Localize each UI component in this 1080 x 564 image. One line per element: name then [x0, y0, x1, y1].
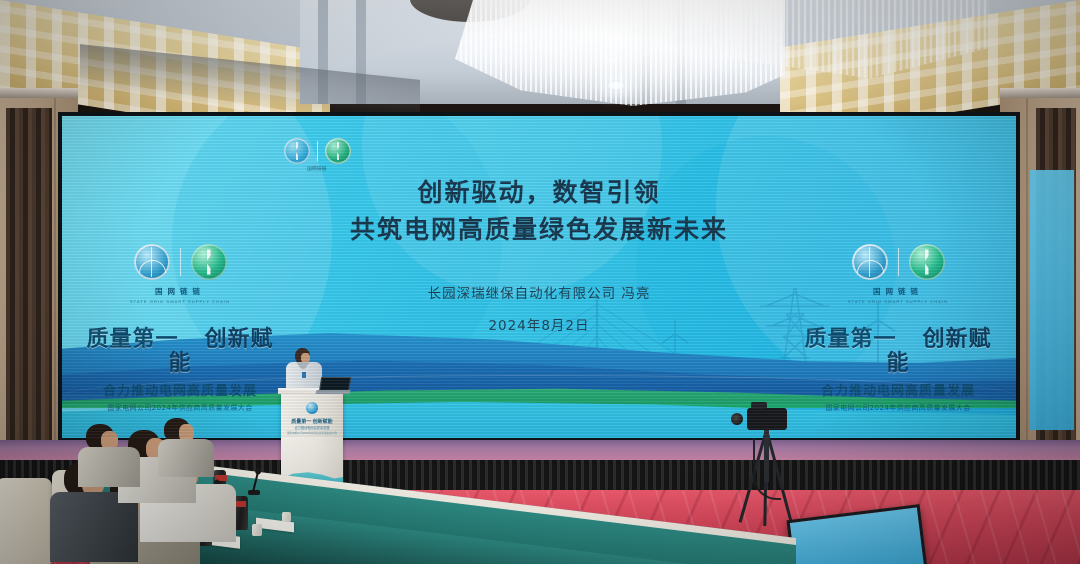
banner-right: 国网链链 STATE GRID SMART SUPPLY CHAIN 质量第一 … — [794, 244, 1002, 413]
banner-right-headline-p2: 创新赋能 — [886, 327, 991, 376]
banner-left-headline-p1: 质量第一 — [86, 327, 178, 352]
state-grid-globe-icon — [852, 244, 888, 280]
supply-chain-s-icon — [191, 244, 227, 280]
camera-lens-icon — [731, 413, 743, 425]
podium-line3: 国家电网公司2024年供应商高质量发展大会 — [281, 431, 343, 435]
banner-left-logos — [76, 244, 284, 280]
banner-right-logo-cn: 国网链链 — [794, 286, 1002, 297]
logo-divider — [898, 248, 899, 276]
marble-vein — [54, 88, 56, 488]
chair — [0, 478, 52, 564]
conference-photo: 国网链链 创新驱动，数智引领 共筑电网高质量绿色发展新未来 长园深瑞继保自动化有… — [0, 0, 1080, 564]
slide-title-line2: 共筑电网高质量绿色发展新未来 — [62, 211, 1016, 248]
banner-right-event: 国家电网公司2024年供应商高质量发展大会 — [794, 403, 1002, 413]
supply-chain-s-icon — [909, 244, 945, 280]
camera-hood — [751, 402, 767, 409]
banner-right-subhead: 合力推动电网高质量发展 — [794, 380, 1002, 399]
video-camera-tripod — [737, 408, 795, 524]
slide-top-logo-caption: 国网链链 — [286, 166, 348, 172]
wall-rail-right — [1000, 88, 1080, 98]
attendee — [158, 418, 214, 474]
led-screen-frame: 国网链链 创新驱动，数智引领 共筑电网高质量绿色发展新未来 长园深瑞继保自动化有… — [58, 112, 1020, 442]
banner-left-logo-cn: 国网链链 — [76, 286, 284, 297]
ceiling — [0, 0, 1080, 100]
side-blue-panel — [1030, 170, 1074, 430]
banner-right-logo-en: STATE GRID SMART SUPPLY CHAIN — [794, 299, 1002, 304]
banner-left-event: 国家电网公司2024年供应商高质量发展大会 — [76, 403, 284, 413]
supply-chain-s-icon — [325, 138, 351, 164]
banner-right-headline: 质量第一 创新赋能 — [794, 328, 1002, 376]
podium-line2: 合力推动电网高质量发展 — [281, 425, 343, 430]
wall-rail-left — [0, 88, 78, 98]
slide-title-line1: 创新驱动，数智引领 — [62, 174, 1016, 211]
banner-left: 国网链链 STATE GRID SMART SUPPLY CHAIN 质量第一 … — [76, 244, 284, 413]
attendee — [78, 424, 140, 484]
banner-right-logos — [794, 244, 1002, 280]
banner-left-headline: 质量第一 创新赋能 — [76, 328, 284, 376]
state-grid-globe-icon — [284, 138, 310, 164]
presenter-badge — [302, 372, 306, 378]
water-cup — [282, 512, 291, 522]
banner-left-logo-en: STATE GRID SMART SUPPLY CHAIN — [76, 299, 284, 304]
camera-cable — [753, 438, 781, 500]
curtain-left — [6, 108, 52, 488]
logo-divider — [317, 141, 318, 161]
state-grid-globe-icon — [134, 244, 170, 280]
presenter-laptop — [316, 377, 350, 394]
podium-line1: 质量第一 创新赋能 — [281, 418, 343, 425]
attendee-body — [158, 439, 214, 477]
podium-logo-icon — [306, 402, 318, 414]
banner-left-subhead: 合力推动电网高质量发展 — [76, 380, 284, 399]
water-cup — [252, 524, 262, 536]
video-camera-icon — [747, 408, 787, 430]
banner-right-headline-p1: 质量第一 — [804, 327, 896, 352]
led-screen: 国网链链 创新驱动，数智引领 共筑电网高质量绿色发展新未来 长园深瑞继保自动化有… — [62, 116, 1016, 438]
laptop-base — [315, 390, 350, 394]
attendee-body — [78, 447, 140, 487]
logo-divider — [180, 248, 181, 276]
banner-left-headline-p2: 创新赋能 — [168, 327, 273, 376]
slide-top-logo: 国网链链 — [284, 138, 351, 164]
marble-vein — [1026, 88, 1028, 488]
